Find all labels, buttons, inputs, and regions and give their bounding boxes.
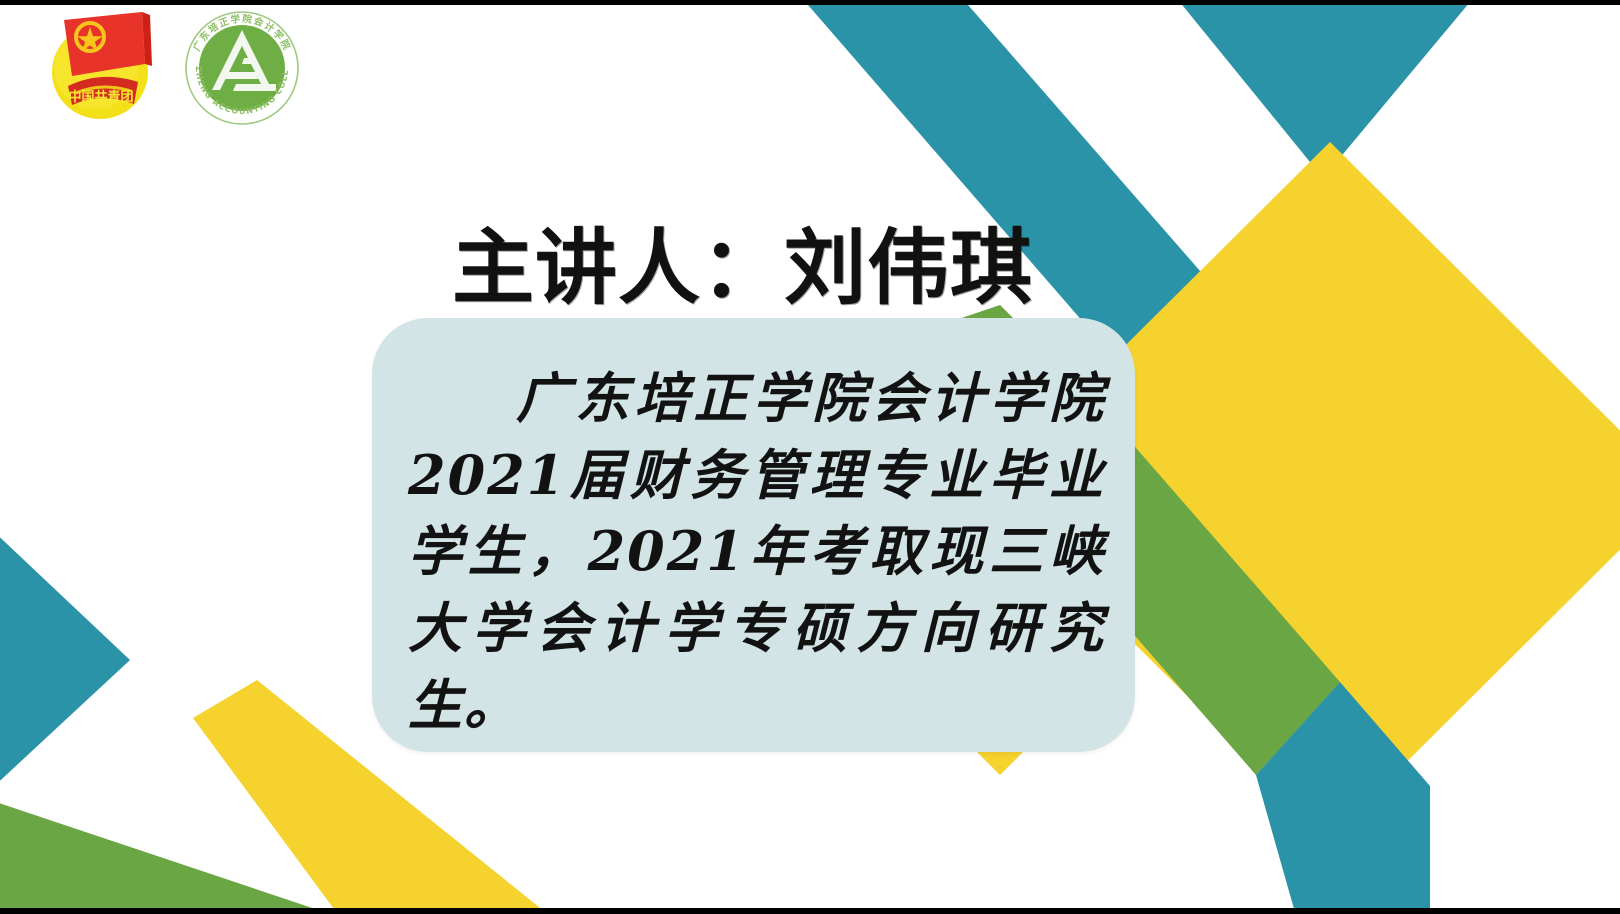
teal-top-triangle — [1170, 0, 1480, 178]
green-bottom-left-wedge — [0, 800, 360, 914]
speaker-bio-text: 广东培正学院会计学院2021届财务管理专业毕业学生，2021年考取现三峡大学会计… — [408, 360, 1105, 743]
page-title: 主讲人：刘伟琪 — [452, 226, 1033, 311]
letterbox-bottom-bar — [0, 908, 1620, 914]
league-emblem-text: 中国共青团 — [68, 89, 133, 105]
slide-root: 中国共青团 广东培正学院会计学院 PEIZHENG ACCOUNTING COL… — [0, 0, 1620, 914]
teal-left-triangle — [0, 528, 130, 790]
letterbox-top-bar — [0, 0, 1620, 5]
teal-chevron-lower-tail — [1256, 682, 1430, 914]
peizheng-accounting-college-logo-icon: 广东培正学院会计学院 PEIZHENG ACCOUNTING COLLEGE — [180, 6, 304, 130]
speaker-bio-card: 广东培正学院会计学院2021届财务管理专业毕业学生，2021年考取现三峡大学会计… — [372, 318, 1135, 752]
logo-row: 中国共青团 广东培正学院会计学院 PEIZHENG ACCOUNTING COL… — [46, 6, 304, 130]
communist-youth-league-emblem-icon: 中国共青团 — [46, 6, 156, 124]
